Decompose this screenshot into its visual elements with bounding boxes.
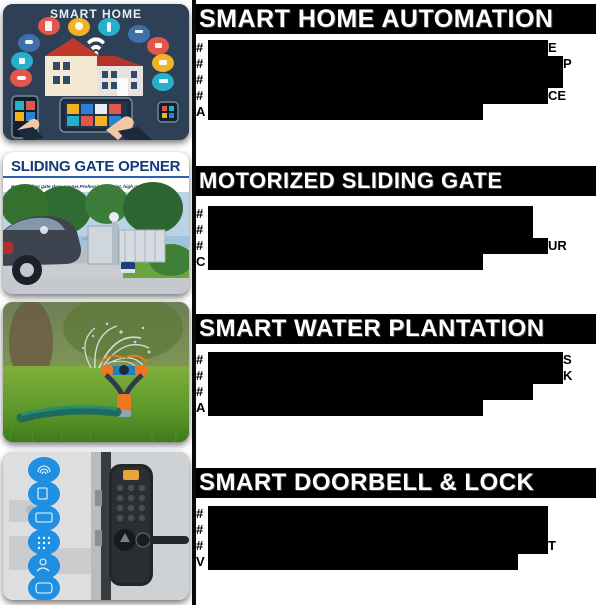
list-item: V <box>196 554 600 570</box>
redacted-body <box>208 222 533 238</box>
redacted-body <box>208 56 563 72</box>
bullet-mark: # <box>196 56 208 72</box>
smart-home-illustration: SMART HOME <box>3 4 189 140</box>
body-tail: K <box>563 368 572 383</box>
list-item: # <box>196 222 600 238</box>
redacted-body <box>208 72 563 88</box>
redacted-body <box>208 88 548 104</box>
bullet-mark: # <box>196 506 208 522</box>
redacted-body <box>208 238 548 254</box>
text-column-2: MOTORIZED SLIDING GATE # # #UR C <box>196 148 600 298</box>
bullet-mark: V <box>196 554 208 570</box>
list-item: #K <box>196 368 600 384</box>
bullet-mark: # <box>196 88 208 104</box>
body-tail: UR <box>548 238 567 253</box>
list-item: #S <box>196 352 600 368</box>
feature-list-page: SMART HOME <box>0 0 600 605</box>
list-item: # <box>196 384 600 400</box>
section-motorized-sliding-gate: SLIDING GATE OPENER Home sliding gate do… <box>0 148 600 298</box>
section-smart-doorbell-and-lock: SMART DOORBELL & LOCK # # #T V <box>0 448 600 605</box>
bullet-list: #E #P # #CE A <box>196 40 600 120</box>
bullet-mark: # <box>196 368 208 384</box>
list-item: #E <box>196 40 600 56</box>
section-heading: MOTORIZED SLIDING GATE <box>196 166 596 196</box>
bullet-list: # # #UR C <box>196 206 600 270</box>
body-tail: P <box>563 56 572 71</box>
sliding-gate-opener-banner[interactable]: SLIDING GATE OPENER Home sliding gate do… <box>3 152 189 294</box>
redacted-body <box>208 400 483 416</box>
body-tail: T <box>548 538 556 553</box>
smart-home-infographic[interactable]: SMART HOME <box>3 4 189 140</box>
section-smart-water-plantation: SMART WATER PLANTATION #S #K # A <box>0 298 600 448</box>
redacted-body <box>208 368 563 384</box>
list-item: # <box>196 72 600 88</box>
redacted-body <box>208 554 518 570</box>
bullet-mark: C <box>196 254 208 270</box>
list-item: # <box>196 506 600 522</box>
bullet-list: # # #T V <box>196 506 600 570</box>
text-column-1: SMART HOME AUTOMATION #E #P # #CE A <box>196 0 600 148</box>
bullet-mark: # <box>196 384 208 400</box>
text-column-4: SMART DOORBELL & LOCK # # #T V <box>196 448 600 605</box>
redacted-body <box>208 40 548 56</box>
list-item: C <box>196 254 600 270</box>
redacted-body <box>208 254 483 270</box>
list-item: # <box>196 522 600 538</box>
bullet-mark: # <box>196 238 208 254</box>
bullet-mark: # <box>196 206 208 222</box>
sprinkler-illustration <box>3 302 189 442</box>
sliding-gate-illustration: SLIDING GATE OPENER Home sliding gate do… <box>3 152 189 294</box>
bullet-mark: A <box>196 104 208 120</box>
bullet-mark: A <box>196 400 208 416</box>
bullet-mark: # <box>196 522 208 538</box>
section-heading: SMART DOORBELL & LOCK <box>196 468 596 498</box>
smart-door-lock-photo[interactable] <box>3 452 189 600</box>
redacted-body <box>208 538 548 554</box>
list-item: #UR <box>196 238 600 254</box>
section-heading: SMART HOME AUTOMATION <box>196 4 596 34</box>
list-item: # <box>196 206 600 222</box>
redacted-body <box>208 206 533 222</box>
redacted-body <box>208 522 548 538</box>
list-item: #T <box>196 538 600 554</box>
list-item: A <box>196 400 600 416</box>
body-tail: E <box>548 40 557 55</box>
redacted-body <box>208 384 533 400</box>
section-heading: SMART WATER PLANTATION <box>196 314 596 344</box>
redacted-body <box>208 352 563 368</box>
redacted-body <box>208 506 548 522</box>
bullet-mark: # <box>196 222 208 238</box>
bullet-list: #S #K # A <box>196 352 600 416</box>
redacted-body <box>208 104 483 120</box>
lawn-sprinkler-photo[interactable] <box>3 302 189 442</box>
gate-banner-title: SLIDING GATE OPENER <box>11 158 181 175</box>
body-tail: CE <box>548 88 566 103</box>
bullet-mark: # <box>196 538 208 554</box>
smart-home-image-title: SMART HOME <box>50 7 142 21</box>
bullet-mark: # <box>196 40 208 56</box>
bullet-mark: # <box>196 352 208 368</box>
bullet-mark: # <box>196 72 208 88</box>
body-tail: S <box>563 352 572 367</box>
text-column-3: SMART WATER PLANTATION #S #K # A <box>196 298 600 448</box>
door-lock-illustration <box>3 452 189 600</box>
list-item: A <box>196 104 600 120</box>
section-smart-home-automation: SMART HOME <box>0 0 600 148</box>
list-item: #P <box>196 56 600 72</box>
list-item: #CE <box>196 88 600 104</box>
